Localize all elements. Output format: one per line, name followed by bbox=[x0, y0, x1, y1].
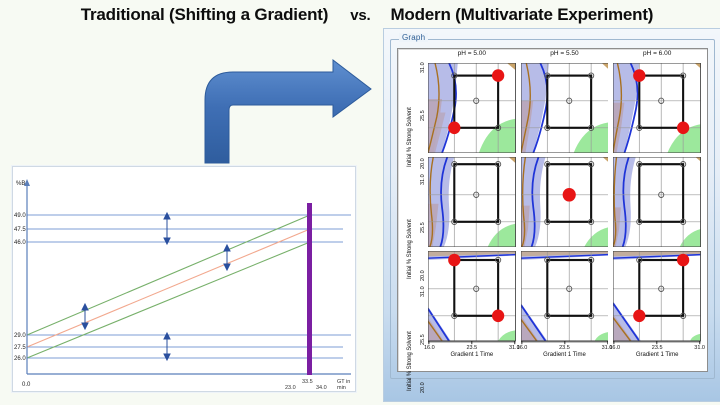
facet-cell[interactable]: pH = 5.50 bbox=[521, 63, 609, 153]
plot-frame[interactable]: Initial % Strong Solvent 31.0 25.5 20.0 … bbox=[397, 48, 708, 372]
ytick-row2-mid: 25.5 bbox=[420, 222, 426, 233]
y-axis-label-row1: Initial % Strong Solvent bbox=[407, 107, 413, 167]
column-header-2: pH = 5.50 bbox=[521, 50, 609, 57]
red-marker bbox=[562, 188, 575, 202]
xtick-c3-1: 23.5 bbox=[652, 345, 663, 351]
transition-arrow bbox=[185, 58, 380, 168]
ytick-row1-top: 31.0 bbox=[420, 62, 426, 73]
left-ytick-1: 47.5 bbox=[14, 227, 26, 233]
ytick-row3-top: 31.0 bbox=[420, 286, 426, 297]
x-axis-label-c1: Gradient 1 Time bbox=[428, 352, 516, 358]
x-axis-col2: 16.0 23.5 31.0 Gradient 1 Time bbox=[521, 341, 609, 367]
xtick-c2-0: 16.0 bbox=[517, 345, 528, 351]
traditional-gradient-chart: %B 49.0 47.5 46.0 29.0 27.5 26.0 0.0 23.… bbox=[12, 166, 356, 392]
xtick-c3-2: 31.0 bbox=[694, 345, 705, 351]
modern-experiment-panel: Graph Initial % Strong Solvent 31.0 25.5… bbox=[383, 28, 720, 402]
column-header-1: pH = 5.00 bbox=[428, 50, 516, 57]
red-marker bbox=[677, 254, 689, 267]
ytick-row2-top: 31.0 bbox=[420, 174, 426, 185]
red-marker bbox=[492, 310, 504, 323]
xtick-c1-0: 16.0 bbox=[424, 345, 435, 351]
x-axis-label-c2: Gradient 1 Time bbox=[521, 352, 609, 358]
red-marker bbox=[448, 122, 460, 135]
facet-plot-r2c2 bbox=[521, 157, 609, 247]
red-marker bbox=[492, 69, 504, 82]
facet-cell[interactable] bbox=[428, 157, 516, 247]
x-axis-label-c3: Gradient 1 Time bbox=[613, 352, 701, 358]
facet-cell[interactable]: 16.0 23.5 31.0 Gradient 1 Time bbox=[613, 251, 701, 341]
facet-cell[interactable] bbox=[613, 157, 701, 247]
left-xtick-0: 23.0 bbox=[285, 385, 296, 391]
left-ytick-5: 26.0 bbox=[14, 356, 26, 362]
xtick-c2-1: 23.5 bbox=[559, 345, 570, 351]
facet-cell[interactable]: pH = 5.00 bbox=[428, 63, 516, 153]
traditional-chart-svg: %B 49.0 47.5 46.0 29.0 27.5 26.0 0.0 23.… bbox=[13, 167, 355, 391]
ytick-row1-bot: 20.0 bbox=[420, 158, 426, 169]
left-xtick-2: 34.0 bbox=[316, 385, 327, 391]
xtick-c1-1: 23.5 bbox=[466, 345, 477, 351]
red-marker bbox=[677, 122, 689, 135]
graph-groupbox: Graph Initial % Strong Solvent 31.0 25.5… bbox=[390, 39, 715, 379]
ytick-row1-mid: 25.5 bbox=[420, 110, 426, 121]
title-traditional: Traditional (Shifting a Gradient) bbox=[81, 5, 328, 25]
facet-cell[interactable]: pH = 6.00 bbox=[613, 63, 701, 153]
left-ytick-4: 27.5 bbox=[14, 345, 26, 351]
left-y-axis-label: %B bbox=[16, 181, 25, 187]
y-axis-label-row2: Initial % Strong Solvent bbox=[407, 219, 413, 279]
red-marker bbox=[448, 254, 460, 267]
facet-plot-r3c3 bbox=[613, 251, 701, 341]
facet-cell[interactable]: 16.0 23.5 31.0 Gradient 1 Time bbox=[428, 251, 516, 341]
left-ytick-0: 49.0 bbox=[14, 213, 26, 219]
facet-plot-r1c2 bbox=[521, 63, 609, 153]
left-xaxis-label-line2: min bbox=[337, 385, 346, 391]
xtick-c3-0: 16.0 bbox=[609, 345, 620, 351]
left-ytick-3: 29.0 bbox=[14, 333, 26, 339]
facet-plot-r3c2 bbox=[521, 251, 609, 341]
facet-plot-r2c3 bbox=[613, 157, 701, 247]
facet-plot-r3c1 bbox=[428, 251, 516, 341]
x-axis-col3: 16.0 23.5 31.0 Gradient 1 Time bbox=[613, 341, 701, 367]
end-marker-bar bbox=[307, 203, 312, 375]
red-marker bbox=[633, 310, 645, 323]
left-xtick-1: 33.5 bbox=[302, 379, 313, 385]
left-origin-label: 0.0 bbox=[22, 382, 31, 388]
facet-cell[interactable] bbox=[521, 157, 609, 247]
facet-grid: pH = 5.00 bbox=[428, 63, 701, 341]
ytick-row3-bot: 20.0 bbox=[420, 382, 426, 393]
ytick-row2-bot: 20.0 bbox=[420, 270, 426, 281]
red-marker bbox=[633, 69, 645, 82]
left-ytick-2: 46.0 bbox=[14, 240, 26, 246]
y-axis-label-row3: Initial % Strong Solvent bbox=[407, 331, 413, 391]
page-title: Traditional (Shifting a Gradient) vs. Mo… bbox=[0, 0, 720, 30]
facet-plot-r2c1 bbox=[428, 157, 516, 247]
ytick-row3-mid: 25.5 bbox=[420, 334, 426, 345]
bent-right-arrow-icon bbox=[185, 58, 380, 168]
title-modern: Modern (Multivariate Experiment) bbox=[390, 5, 653, 25]
facet-plot-r1c3 bbox=[613, 63, 701, 153]
x-axis-col1: 16.0 23.5 31.0 Gradient 1 Time bbox=[428, 341, 516, 367]
column-header-3: pH = 6.00 bbox=[613, 50, 701, 57]
graph-groupbox-label: Graph bbox=[399, 33, 428, 42]
facet-plot-r1c1 bbox=[428, 63, 516, 153]
facet-cell[interactable]: 16.0 23.5 31.0 Gradient 1 Time bbox=[521, 251, 609, 341]
title-vs: vs. bbox=[350, 7, 370, 24]
